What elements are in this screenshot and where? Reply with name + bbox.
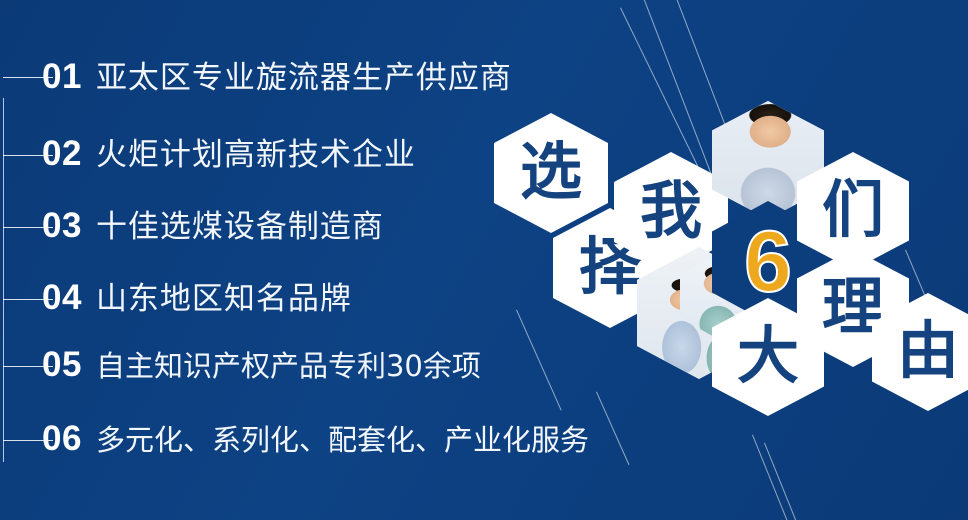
banner-canvas: 01 亚太区专业旋流器生产供应商 02 火炬计划高新技术企业 03 十佳选煤设备… (0, 0, 968, 520)
hex-cell-xuan: 选 (494, 113, 608, 233)
hex-number-six: 6 (744, 219, 792, 305)
hex-glyph: 由 (897, 320, 959, 382)
hex-glyph: 大 (737, 325, 799, 387)
hex-glyph: 我 (640, 180, 702, 242)
hex-glyph: 选 (520, 141, 582, 203)
hexagon-cluster: 选 择 我 6 大 们 (0, 0, 968, 520)
hex-glyph: 们 (822, 179, 884, 241)
